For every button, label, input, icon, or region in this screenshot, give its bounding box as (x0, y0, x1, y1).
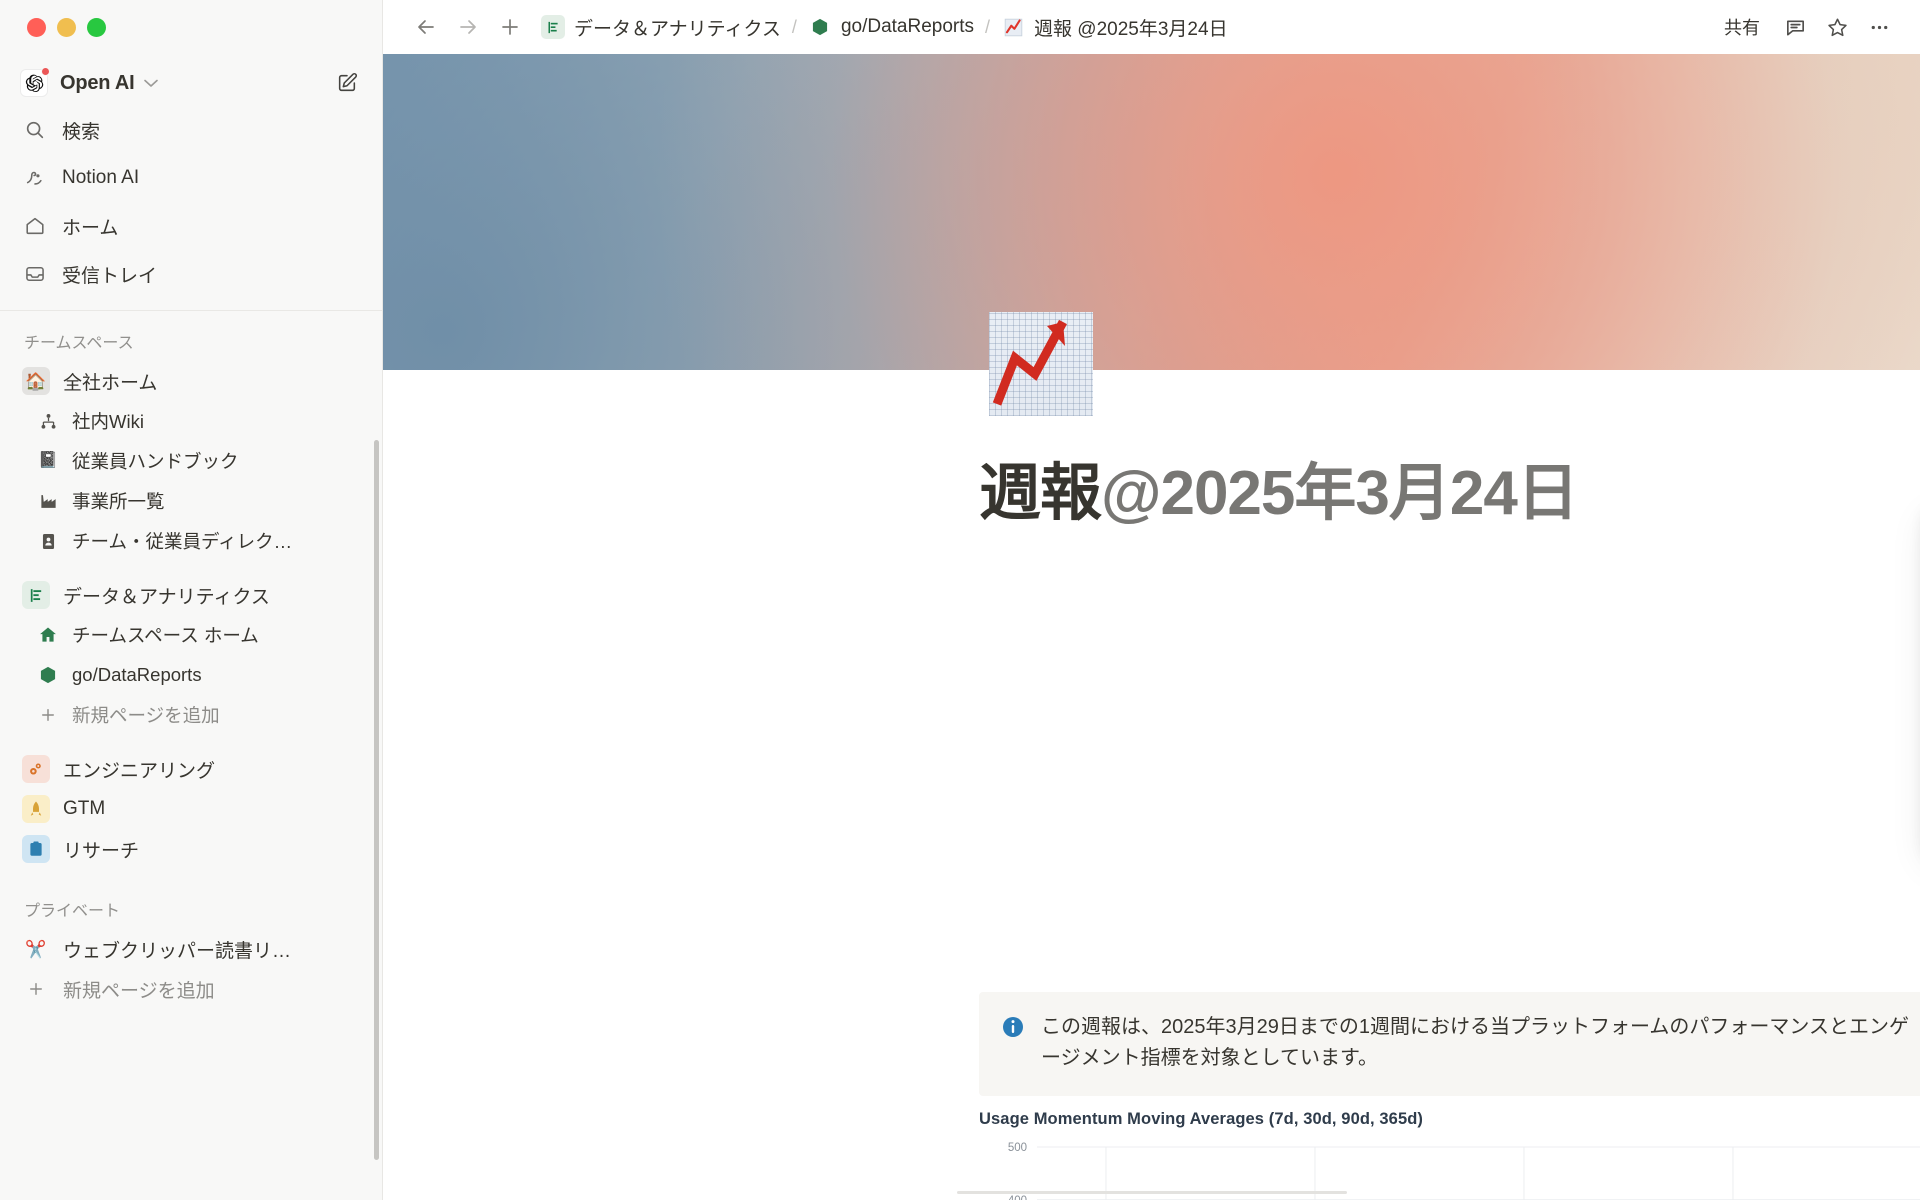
arrow-right-icon[interactable] (447, 15, 489, 39)
sidebar-item-label: 新規ページを追加 (72, 702, 220, 728)
sidebar-item-notion-ai[interactable]: Notion AI (0, 154, 382, 202)
sidebar-item-label: リサーチ (63, 836, 139, 863)
sidebar-item-label: 検索 (62, 117, 100, 144)
window-traffic-lights (0, 0, 382, 52)
bottom-bar (383, 1190, 1920, 1200)
sidebar-divider (0, 310, 382, 311)
workspace-name: Open AI (60, 72, 135, 95)
notification-badge (41, 67, 50, 76)
sidebar-item-label: データ＆アナリティクス (63, 582, 270, 609)
comment-icon[interactable] (1776, 10, 1814, 44)
plus-icon (22, 975, 50, 1003)
green-house-icon (36, 623, 60, 647)
sidebar-item-label: ウェブクリッパー読書リ… (63, 936, 291, 963)
openai-logo-icon (20, 69, 48, 97)
sidebar-item-data-analytics[interactable]: データ＆アナリティクス (0, 575, 382, 615)
share-button[interactable]: 共有 (1712, 8, 1772, 46)
workspace-switcher[interactable]: Open AI (0, 60, 382, 106)
page-scroll-handle[interactable] (957, 1191, 1347, 1194)
breadcrumb-separator: / (785, 17, 804, 38)
top-bar: データ＆アナリティクス / go/DataReports / 週報 @2025年… (383, 0, 1920, 54)
chart-increasing-icon (1001, 15, 1025, 39)
scissors-icon: ✂️ (22, 935, 50, 963)
breadcrumb-label: 週報 @2025年3月24日 (1034, 14, 1228, 41)
sidebar-add-page-private[interactable]: 新規ページを追加 (0, 969, 382, 1009)
plus-icon (36, 703, 60, 727)
chart-block[interactable]: Usage Momentum Moving Averages (7d, 30d,… (979, 1110, 1920, 1200)
breadcrumb-label: データ＆アナリティクス (574, 14, 781, 41)
sidebar-item-label: Notion AI (62, 167, 139, 189)
id-card-icon (36, 529, 60, 553)
sidebar-item-web-clipper[interactable]: ✂️ ウェブクリッパー読書リ… (0, 929, 382, 969)
page-cover-image[interactable] (383, 54, 1920, 370)
breadcrumb-item-current-page[interactable]: 週報 @2025年3月24日 (997, 12, 1232, 43)
chart-increasing-icon (989, 312, 1093, 416)
minimize-window-button[interactable] (57, 18, 76, 37)
rocket-icon (22, 795, 50, 823)
breadcrumb-label: go/DataReports (841, 16, 974, 38)
bar-chart-icon (541, 15, 565, 39)
notion-ai-icon (22, 167, 48, 189)
sidebar: Open AI 検索 (0, 0, 383, 1200)
close-window-button[interactable] (27, 18, 46, 37)
sidebar-item-go-datareports[interactable]: go/DataReports (0, 655, 382, 695)
bar-chart-icon (22, 581, 50, 609)
sidebar-section-private: プライベート (0, 883, 382, 929)
clipboard-icon (22, 835, 50, 863)
inbox-icon (22, 263, 48, 285)
sidebar-item-zensha-home[interactable]: 🏠 全社ホーム (0, 361, 382, 401)
sidebar-item-label: エンジニアリング (63, 756, 215, 783)
plus-icon[interactable] (489, 15, 531, 39)
page-title[interactable]: 週報@2025年3月24日 (979, 460, 1578, 528)
sidebar-item-label: GTM (63, 798, 105, 820)
home-icon (22, 215, 48, 237)
people-network-icon (36, 409, 60, 433)
breadcrumb-separator: / (978, 17, 997, 38)
sidebar-item-label: go/DataReports (72, 664, 202, 686)
hexagon-icon (36, 663, 60, 687)
sidebar-item-label: 事業所一覧 (72, 488, 165, 514)
factory-icon (36, 489, 60, 513)
sidebar-item-label: ホーム (62, 213, 118, 240)
page-title-secondary: @2025年3月24日 (1101, 459, 1578, 528)
info-icon (1001, 1012, 1025, 1074)
search-icon (22, 119, 48, 141)
page-icon[interactable] (989, 312, 1095, 418)
arrow-left-icon[interactable] (405, 15, 447, 39)
sidebar-item-engineering[interactable]: エンジニアリング (0, 749, 382, 789)
sidebar-add-page-teamspace[interactable]: 新規ページを追加 (0, 695, 382, 735)
sidebar-item-label: 社内Wiki (72, 408, 144, 434)
svg-text:500: 500 (1008, 1142, 1027, 1154)
sidebar-item-label: 新規ページを追加 (63, 976, 215, 1003)
page-title-primary: 週報 (979, 459, 1101, 528)
sidebar-item-search[interactable]: 検索 (0, 106, 382, 154)
breadcrumb-item-go-datareports[interactable]: go/DataReports (804, 13, 978, 41)
notebook-icon: 📓 (36, 449, 60, 473)
hexagon-icon (808, 15, 832, 39)
sidebar-section-teamspace: チームスペース (0, 315, 382, 361)
more-horizontal-icon[interactable] (1860, 10, 1898, 44)
app-window: Open AI 検索 (0, 0, 1920, 1200)
chevron-down-icon (144, 77, 158, 90)
chart-title: Usage Momentum Moving Averages (7d, 30d,… (979, 1110, 1920, 1129)
main-content: データ＆アナリティクス / go/DataReports / 週報 @2025年… (383, 0, 1920, 1200)
sidebar-item-wiki[interactable]: 社内Wiki (0, 401, 382, 441)
house-icon: 🏠 (22, 367, 50, 395)
star-icon[interactable] (1818, 10, 1856, 44)
sidebar-item-gtm[interactable]: GTM (0, 789, 382, 829)
sidebar-item-teamspace-home[interactable]: チームスペース ホーム (0, 615, 382, 655)
zoom-window-button[interactable] (87, 18, 106, 37)
sidebar-item-handbook[interactable]: 📓 従業員ハンドブック (0, 441, 382, 481)
sidebar-item-label: チームスペース ホーム (72, 622, 259, 648)
breadcrumb: データ＆アナリティクス / go/DataReports / 週報 @2025年… (537, 12, 1232, 43)
callout-text: この週報は、2025年3月29日までの1週間における当プラットフォームのパフォー… (1041, 1012, 1917, 1074)
topbar-actions: 共有 (1712, 8, 1898, 46)
sidebar-item-home[interactable]: ホーム (0, 202, 382, 250)
gears-icon (22, 755, 50, 783)
sidebar-item-directory[interactable]: チーム・従業員ディレク… (0, 521, 382, 561)
sidebar-item-label: 全社ホーム (63, 368, 157, 395)
sidebar-item-research[interactable]: リサーチ (0, 829, 382, 869)
sidebar-item-label: 受信トレイ (62, 261, 157, 288)
sidebar-scrollbar[interactable] (374, 440, 379, 1160)
sidebar-item-offices[interactable]: 事業所一覧 (0, 481, 382, 521)
sidebar-item-label: チーム・従業員ディレク… (72, 528, 292, 554)
sidebar-item-label: 従業員ハンドブック (72, 448, 239, 474)
breadcrumb-item-data-analytics[interactable]: データ＆アナリティクス (537, 12, 785, 43)
new-page-icon[interactable] (336, 72, 358, 94)
info-callout[interactable]: この週報は、2025年3月29日までの1週間における当プラットフォームのパフォー… (979, 992, 1920, 1096)
sidebar-item-inbox[interactable]: 受信トレイ (0, 250, 382, 298)
